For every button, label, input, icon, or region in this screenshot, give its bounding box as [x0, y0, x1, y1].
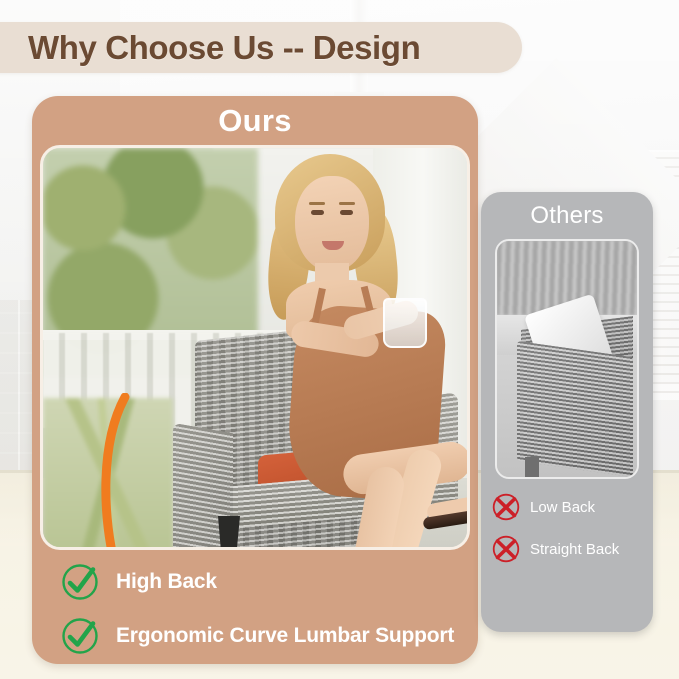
- list-item: Ergonomic Curve Lumbar Support: [60, 609, 460, 663]
- ours-panel: Ours: [32, 96, 478, 664]
- others-panel-title: Others: [481, 192, 653, 240]
- ours-benefit-list: High Back Ergonomic Curve Lumbar Support: [60, 555, 460, 663]
- page-title-banner: Why Choose Us -- Design: [0, 22, 522, 73]
- check-circle-icon: [60, 562, 100, 602]
- ours-panel-title: Ours: [32, 96, 478, 146]
- photo-chair-leg-left: [218, 516, 240, 550]
- photo-model-glass: [383, 298, 427, 348]
- photo-model-eye-right: [340, 210, 353, 215]
- list-item-label: Low Back: [530, 499, 595, 516]
- list-item: High Back: [60, 555, 460, 609]
- others-panel: Others Low Back S: [481, 192, 653, 632]
- photo-model-brow-left: [309, 202, 325, 205]
- photo-plant: [43, 398, 173, 550]
- photo-model-face: [295, 176, 369, 272]
- photo-model-brow-right: [339, 202, 355, 205]
- ours-product-photo: [40, 145, 470, 550]
- page-title: Why Choose Us -- Design: [28, 29, 420, 67]
- list-item-label: Straight Back: [530, 541, 619, 558]
- list-item: Low Back: [491, 486, 653, 528]
- check-circle-icon: [60, 616, 100, 656]
- list-item-label: High Back: [116, 570, 217, 594]
- list-item-label: Ergonomic Curve Lumbar Support: [116, 624, 454, 648]
- x-circle-icon: [491, 492, 521, 522]
- others-drawback-list: Low Back Straight Back: [491, 486, 653, 570]
- others-product-photo: [495, 239, 639, 479]
- others-photo-sofa-leg: [525, 457, 539, 479]
- x-circle-icon: [491, 534, 521, 564]
- list-item: Straight Back: [491, 528, 653, 570]
- photo-model-eye-left: [311, 210, 324, 215]
